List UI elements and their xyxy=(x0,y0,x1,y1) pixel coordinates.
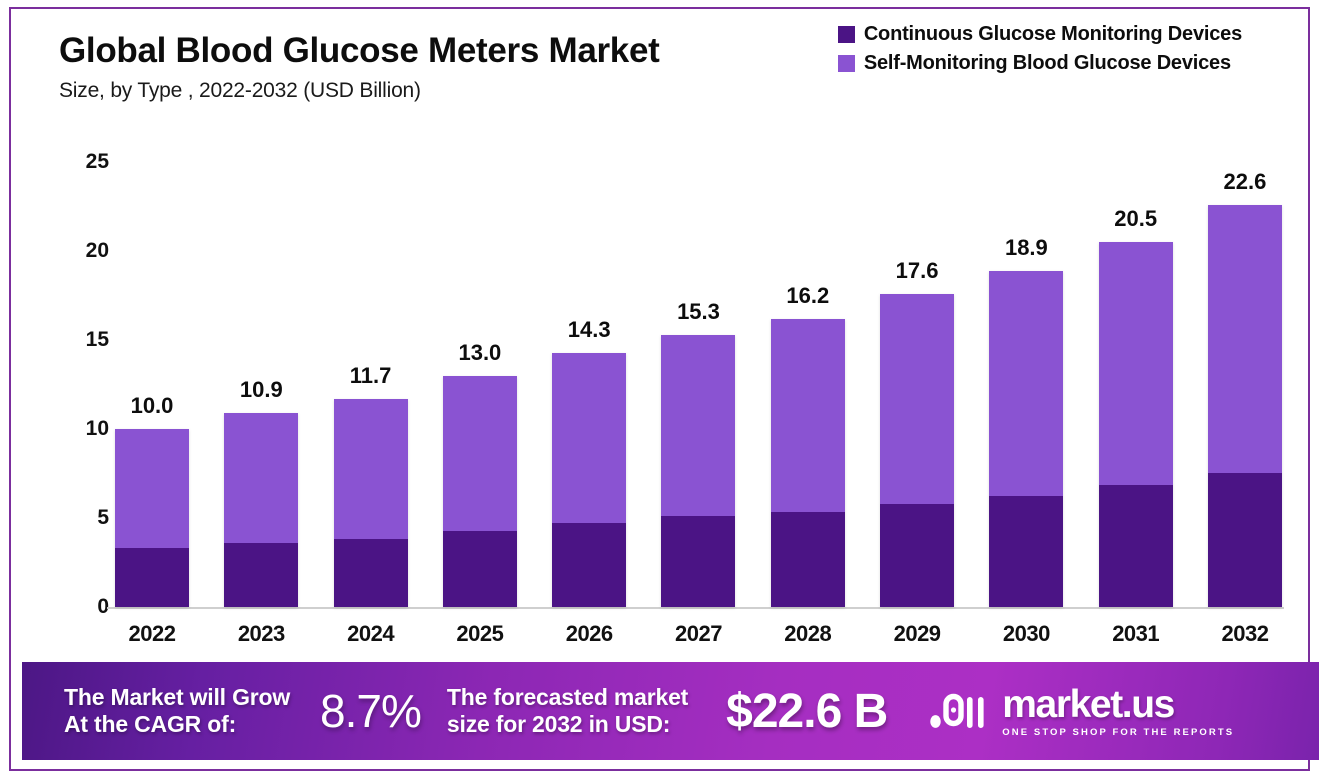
x-axis-tick-label: 2029 xyxy=(880,621,954,647)
bar-column[interactable]: 15.3 xyxy=(661,139,735,607)
forecast-caption-line1: The forecasted market xyxy=(447,684,688,711)
x-axis-tick-label: 2026 xyxy=(552,621,626,647)
stacked-bar[interactable] xyxy=(771,319,845,607)
x-axis-tick-label: 2032 xyxy=(1208,621,1282,647)
x-axis-tick-label: 2025 xyxy=(443,621,517,647)
x-axis-tick-label: 2028 xyxy=(771,621,845,647)
page-subtitle: Size, by Type , 2022-2032 (USD Billion) xyxy=(59,79,660,103)
stacked-bar[interactable] xyxy=(1208,205,1282,607)
stacked-bar[interactable] xyxy=(443,376,517,607)
chart-header: Global Blood Glucose Meters Market Size,… xyxy=(11,9,1308,139)
y-axis-tick-label: 5 xyxy=(63,506,109,530)
y-axis-tick-label: 10 xyxy=(63,417,109,441)
stacked-bar[interactable] xyxy=(334,399,408,607)
stacked-bar[interactable] xyxy=(880,294,954,607)
bar-segment-smbg[interactable] xyxy=(1099,242,1173,485)
bar-total-label: 10.0 xyxy=(131,393,174,419)
bar-segment-cgm[interactable] xyxy=(334,539,408,607)
bar-segment-smbg[interactable] xyxy=(1208,205,1282,473)
bar-column[interactable]: 10.9 xyxy=(224,139,298,607)
x-axis-tick-label: 2030 xyxy=(989,621,1063,647)
legend-item-cgm[interactable]: Continuous Glucose Monitoring Devices xyxy=(838,23,1242,46)
bar-segment-smbg[interactable] xyxy=(989,271,1063,496)
x-axis: 2022202320242025202620272028202920302031… xyxy=(115,621,1282,647)
forecast-caption-line2: size for 2032 in USD: xyxy=(447,711,688,738)
bar-total-label: 11.7 xyxy=(350,363,392,389)
x-axis-tick-label: 2024 xyxy=(334,621,408,647)
bar-segment-cgm[interactable] xyxy=(661,516,735,607)
bar-segment-smbg[interactable] xyxy=(443,376,517,531)
bar-total-label: 16.2 xyxy=(786,283,829,309)
cagr-value: 8.7% xyxy=(320,684,421,738)
bar-segment-cgm[interactable] xyxy=(771,512,845,607)
y-axis-tick-label: 15 xyxy=(63,328,109,352)
stacked-bar[interactable] xyxy=(661,335,735,607)
bar-segment-smbg[interactable] xyxy=(334,399,408,539)
y-axis-tick-label: 0 xyxy=(63,595,109,619)
stacked-bar[interactable] xyxy=(224,413,298,607)
legend-item-label: Continuous Glucose Monitoring Devices xyxy=(864,23,1242,46)
bar-total-label: 13.0 xyxy=(458,340,501,366)
cagr-caption-line2: At the CAGR of: xyxy=(64,711,290,738)
chart-card-frame: Global Blood Glucose Meters Market Size,… xyxy=(9,7,1310,771)
bar-series-container: 10.010.911.713.014.315.316.217.618.920.5… xyxy=(115,139,1282,607)
bar-total-label: 10.9 xyxy=(240,377,283,403)
logo-text-block: market.us ONE STOP SHOP FOR THE REPORTS xyxy=(1002,685,1234,738)
x-axis-baseline xyxy=(107,607,1284,609)
market-us-logo[interactable]: market.us ONE STOP SHOP FOR THE REPORTS xyxy=(929,685,1234,738)
y-axis-tick-label: 25 xyxy=(63,150,109,174)
bar-segment-cgm[interactable] xyxy=(1099,485,1173,607)
bar-segment-smbg[interactable] xyxy=(552,353,626,524)
cagr-caption: The Market will Grow At the CAGR of: xyxy=(64,684,290,738)
bar-segment-cgm[interactable] xyxy=(989,496,1063,607)
bar-column[interactable]: 10.0 xyxy=(115,139,189,607)
bar-segment-smbg[interactable] xyxy=(661,335,735,516)
bar-segment-cgm[interactable] xyxy=(880,504,954,607)
bar-segment-cgm[interactable] xyxy=(552,523,626,607)
bar-segment-cgm[interactable] xyxy=(115,548,189,607)
forecast-value: $22.6 B xyxy=(726,684,887,739)
x-axis-tick-label: 2031 xyxy=(1099,621,1173,647)
x-axis-tick-label: 2022 xyxy=(115,621,189,647)
bar-column[interactable]: 17.6 xyxy=(880,139,954,607)
bar-column[interactable]: 16.2 xyxy=(771,139,845,607)
x-axis-tick-label: 2023 xyxy=(224,621,298,647)
stacked-bar[interactable] xyxy=(1099,242,1173,607)
legend-swatch-icon xyxy=(838,55,855,72)
bar-segment-smbg[interactable] xyxy=(224,413,298,543)
legend-item-smbg[interactable]: Self-Monitoring Blood Glucose Devices xyxy=(838,52,1231,75)
bar-total-label: 17.6 xyxy=(896,258,939,284)
legend-swatch-icon xyxy=(838,26,855,43)
chart-legend: Continuous Glucose Monitoring Devices Se… xyxy=(838,23,1242,75)
cagr-caption-line1: The Market will Grow xyxy=(64,684,290,711)
bar-total-label: 15.3 xyxy=(677,299,720,325)
stacked-bar[interactable] xyxy=(552,353,626,607)
legend-item-label: Self-Monitoring Blood Glucose Devices xyxy=(864,52,1231,75)
logo-tagline: ONE STOP SHOP FOR THE REPORTS xyxy=(1002,727,1234,738)
bar-total-label: 22.6 xyxy=(1224,169,1267,195)
bar-segment-cgm[interactable] xyxy=(224,543,298,607)
forecast-caption: The forecasted market size for 2032 in U… xyxy=(447,684,688,738)
chart-page: Global Blood Glucose Meters Market Size,… xyxy=(0,0,1319,780)
bar-column[interactable]: 18.9 xyxy=(989,139,1063,607)
bar-column[interactable]: 13.0 xyxy=(443,139,517,607)
bar-segment-cgm[interactable] xyxy=(1208,473,1282,607)
bar-segment-smbg[interactable] xyxy=(115,429,189,548)
x-axis-tick-label: 2027 xyxy=(661,621,735,647)
footer-banner: The Market will Grow At the CAGR of: 8.7… xyxy=(22,662,1319,760)
bar-total-label: 18.9 xyxy=(1005,235,1048,261)
stacked-bar[interactable] xyxy=(115,429,189,607)
market-us-logo-icon xyxy=(929,691,991,731)
y-axis-tick-label: 20 xyxy=(63,239,109,263)
bar-segment-smbg[interactable] xyxy=(771,319,845,512)
logo-wordmark: market.us xyxy=(1002,685,1174,724)
page-title: Global Blood Glucose Meters Market xyxy=(59,33,660,70)
chart-plot-area: 0510152025 10.010.911.713.014.315.316.21… xyxy=(11,139,1308,659)
stacked-bar[interactable] xyxy=(989,271,1063,607)
bar-column[interactable]: 11.7 xyxy=(334,139,408,607)
title-block: Global Blood Glucose Meters Market Size,… xyxy=(59,33,660,103)
bar-segment-smbg[interactable] xyxy=(880,294,954,504)
bar-column[interactable]: 20.5 xyxy=(1099,139,1173,607)
bar-segment-cgm[interactable] xyxy=(443,531,517,607)
bar-total-label: 14.3 xyxy=(568,317,611,343)
bar-column[interactable]: 22.6 xyxy=(1208,139,1282,607)
y-axis: 0510152025 xyxy=(63,139,109,599)
bar-total-label: 20.5 xyxy=(1114,206,1157,232)
bar-column[interactable]: 14.3 xyxy=(552,139,626,607)
